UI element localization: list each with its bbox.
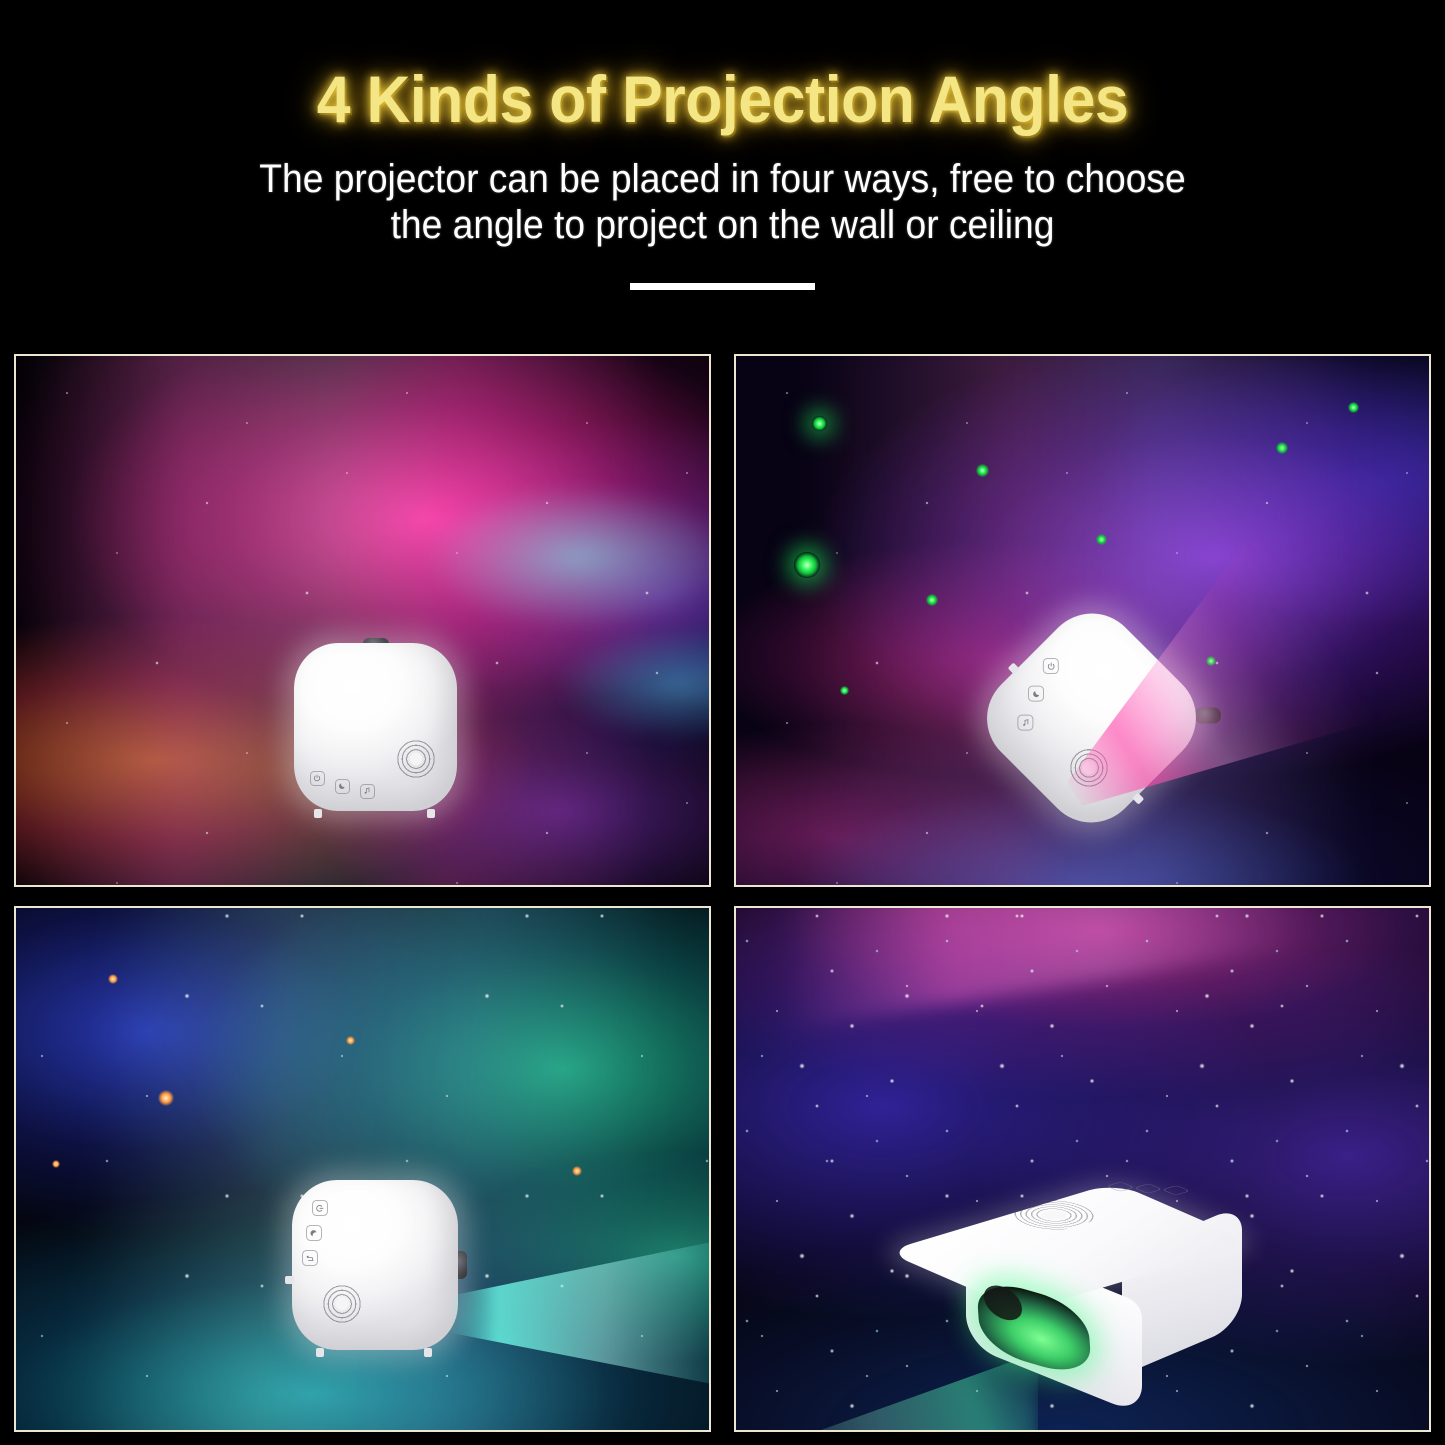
- green-laser-point: [1206, 656, 1216, 666]
- divider-container: [0, 283, 1445, 290]
- panel-tilted-diamond: [734, 354, 1431, 887]
- panel-lying-flat: [734, 906, 1431, 1432]
- warm-star-point: [52, 1160, 60, 1168]
- nebula-scene-3: [16, 908, 709, 1430]
- green-laser-point: [840, 686, 849, 695]
- panel-upright-front: [14, 354, 711, 887]
- projector-device-1: [294, 643, 457, 811]
- moon-icon[interactable]: [335, 779, 350, 794]
- music-note-icon[interactable]: [1162, 1185, 1191, 1196]
- green-laser-point: [926, 594, 938, 606]
- projector-device-3: [292, 1180, 458, 1350]
- moon-icon[interactable]: [1028, 686, 1044, 702]
- device-foot: [427, 809, 435, 818]
- green-laser-point: [794, 552, 820, 578]
- projector-device-4: [954, 1172, 1254, 1402]
- green-laser-point: [1276, 442, 1288, 454]
- panel-rotated-side: [14, 906, 711, 1432]
- subtitle-line-2: the angle to project on the wall or ceil…: [51, 202, 1395, 248]
- warm-star-point: [572, 1166, 582, 1176]
- green-laser-point: [1348, 402, 1359, 413]
- device-foot: [314, 809, 322, 818]
- speaker-grille-1: [388, 731, 444, 787]
- starfield-3: [16, 908, 709, 1430]
- projector-lens-2: [1195, 708, 1221, 724]
- power-icon[interactable]: [310, 771, 325, 786]
- speaker-grille-3: [314, 1276, 370, 1332]
- warm-star-point: [346, 1036, 355, 1045]
- music-note-icon[interactable]: [1017, 715, 1033, 731]
- moon-icon[interactable]: [306, 1225, 322, 1241]
- title-divider: [630, 283, 815, 290]
- page-title: 4 Kinds of Projection Angles: [58, 66, 1387, 132]
- power-icon[interactable]: [312, 1200, 328, 1216]
- device-foot: [316, 1348, 324, 1357]
- music-note-icon[interactable]: [360, 784, 375, 799]
- warm-star-point: [108, 974, 118, 984]
- device-foot: [424, 1348, 432, 1357]
- power-icon[interactable]: [1043, 658, 1059, 674]
- green-laser-point: [1096, 534, 1107, 545]
- header-section: 4 Kinds of Projection Angles The project…: [0, 0, 1445, 290]
- subtitle-line-1: The projector can be placed in four ways…: [51, 156, 1395, 202]
- device-foot: [285, 1276, 294, 1284]
- warm-star-point: [158, 1090, 174, 1106]
- green-laser-point: [976, 464, 989, 477]
- music-note-icon[interactable]: [302, 1250, 318, 1266]
- green-laser-point: [812, 416, 827, 431]
- projection-angle-gallery: [14, 354, 1431, 1432]
- page-subtitle: The projector can be placed in four ways…: [51, 156, 1395, 249]
